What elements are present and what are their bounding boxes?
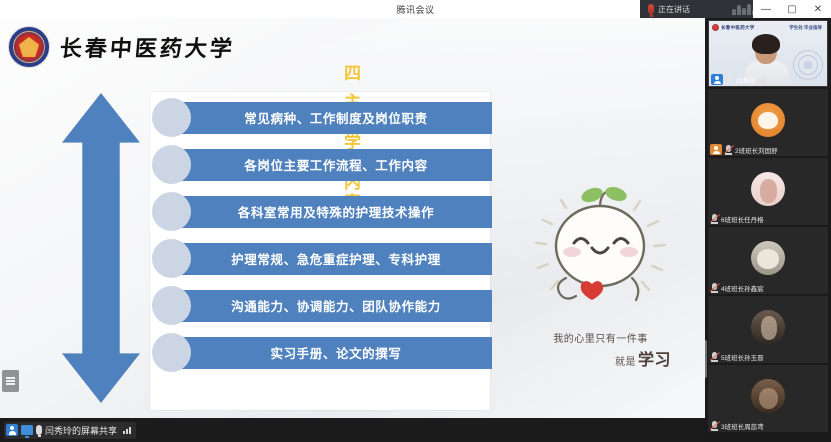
- mascot-caption-emphasis: 学习: [638, 346, 671, 370]
- avatar: [751, 379, 785, 413]
- list-item-label: 各岗位主要工作流程、工作内容: [244, 155, 427, 174]
- minimize-button[interactable]: —: [753, 0, 779, 18]
- window-title: 腾讯会议: [396, 3, 434, 16]
- participant-tile-footer: 4班班长孙鑫宸: [708, 281, 828, 294]
- tencent-meeting-window: 腾讯会议 正在讲话 — ▢ ✕ 长春中医药大学: [0, 0, 831, 442]
- list-item-bar: 常见病种、工作制度及岗位职责: [180, 102, 492, 134]
- participant-tile-footer: 6班班长任丹格: [708, 212, 828, 225]
- participant-tile[interactable]: 4班班长孙鑫宸: [708, 227, 828, 294]
- participant-tile[interactable]: 2班班长刘国舒: [708, 89, 828, 156]
- video-overlay-logo-text: 长春中医药大学: [721, 25, 755, 31]
- signal-strength-icon: [123, 427, 131, 434]
- list-item: 各科室常用及特殊的护理技术操作: [152, 192, 492, 231]
- share-owner-label: 闫秀玲的屏幕共享: [45, 424, 117, 437]
- speaking-status-label: 正在讲话: [658, 4, 690, 15]
- window-controls: — ▢ ✕: [753, 0, 831, 18]
- double-arrow-icon: [62, 93, 140, 403]
- list-item-bullet-icon: [152, 239, 191, 278]
- sprout-character-icon: [526, 186, 676, 328]
- section-number: 四: [344, 66, 361, 83]
- participant-tile-footer: 2班班长刘国舒: [708, 143, 828, 156]
- video-overlay-right-text: 学生处 毕业指导: [789, 25, 822, 32]
- maximize-button[interactable]: ▢: [779, 0, 805, 18]
- mascot-illustration: 我的心里只有一件事 就是 学习: [508, 186, 693, 376]
- list-item-label: 常见病种、工作制度及岗位职责: [244, 108, 427, 127]
- hamburger-icon: [6, 380, 15, 382]
- participant-tile-footer: 5班班长孙玉晋: [708, 350, 828, 363]
- participant-tile[interactable]: 5班班长孙玉晋: [708, 296, 828, 363]
- slide-header: 长春中医药大学: [8, 26, 235, 68]
- list-item-label: 各科室常用及特殊的护理技术操作: [238, 202, 435, 221]
- microphone-muted-icon: [710, 421, 719, 431]
- participant-tile-footer: 3班班长周蕊鸢: [708, 419, 828, 432]
- microphone-muted-icon: [710, 283, 719, 293]
- list-item-bar: 实习手册、论文的撰写: [180, 337, 492, 369]
- presentation-slide: 长春中医药大学 四 主 要 学 习 内 容 常见病种、工: [0, 18, 705, 418]
- avatar: [751, 310, 785, 344]
- avatar: [751, 241, 785, 275]
- share-owner-chip[interactable]: 闫秀玲的屏幕共享: [4, 422, 136, 439]
- participant-tile[interactable]: 6班班长任丹格: [708, 158, 828, 225]
- university-logo-icon: [712, 24, 719, 31]
- list-item-bar: 各岗位主要工作流程、工作内容: [180, 149, 492, 181]
- participant-name: 闫秀玲: [736, 75, 756, 85]
- participant-name: 3班班长周蕊鸢: [721, 421, 764, 431]
- sidebar-scrollbar[interactable]: [705, 340, 707, 378]
- signal-strength-icon: [760, 77, 766, 83]
- mascot-caption-prefix: 就是: [615, 353, 636, 368]
- participant-tile-active[interactable]: 长春中医药大学 学生处 毕业指导 闫秀玲: [708, 20, 828, 87]
- participant-icon: [6, 424, 18, 436]
- list-item: 护理常规、急危重症护理、专科护理: [152, 239, 492, 278]
- list-item: 各岗位主要工作流程、工作内容: [152, 145, 492, 184]
- participant-tile-footer: 闫秀玲: [709, 73, 827, 86]
- list-item-bullet-icon: [152, 145, 191, 184]
- list-item-label: 实习手册、论文的撰写: [270, 343, 401, 362]
- panel-toggle-button[interactable]: [2, 370, 19, 392]
- participant-name: 4班班长孙鑫宸: [721, 283, 764, 293]
- list-item-bar: 护理常规、急危重症护理、专科护理: [180, 243, 492, 275]
- list-item-bullet-icon: [152, 98, 191, 137]
- screen-share-icon: [21, 425, 33, 435]
- list-item: 实习手册、论文的撰写: [152, 333, 492, 372]
- participant-tile[interactable]: 3班班长周蕊鸢: [708, 365, 828, 432]
- close-button[interactable]: ✕: [805, 0, 831, 18]
- participant-name: 6班班长任丹格: [721, 214, 764, 224]
- shared-screen-area[interactable]: 长春中医药大学 四 主 要 学 习 内 容 常见病种、工: [0, 18, 705, 418]
- mascot-caption-line-2: 就是 学习: [615, 346, 671, 370]
- microphone-muted-icon: [724, 145, 733, 155]
- mascot-caption-line-1: 我的心里只有一件事: [553, 330, 648, 345]
- participant-name: 5班班长孙玉晋: [721, 352, 764, 362]
- participant-sidebar[interactable]: 长春中医药大学 学生处 毕业指导 闫秀玲: [705, 18, 831, 442]
- avatar: [751, 172, 785, 206]
- list-item-bar: 沟通能力、协调能力、团队协作能力: [180, 290, 492, 322]
- university-logo-icon: [8, 26, 50, 68]
- list-item-bullet-icon: [152, 192, 191, 231]
- host-badge-icon: [711, 74, 723, 85]
- screen-share-status-bar: 闫秀玲的屏幕共享: [0, 418, 705, 442]
- list-item: 沟通能力、协调能力、团队协作能力: [152, 286, 492, 325]
- list-item: 常见病种、工作制度及岗位职责: [152, 98, 492, 137]
- microphone-active-icon: [648, 4, 654, 14]
- section-arrow-banner: [62, 93, 140, 403]
- speaking-status-chip: 正在讲话: [648, 4, 690, 15]
- list-item-bar: 各科室常用及特殊的护理技术操作: [180, 196, 492, 228]
- list-item-label: 沟通能力、协调能力、团队协作能力: [231, 296, 441, 315]
- list-item-bullet-icon: [152, 333, 191, 372]
- microphone-muted-icon: [710, 214, 719, 224]
- microphone-muted-icon: [710, 352, 719, 362]
- microphone-on-icon: [725, 75, 734, 85]
- avatar: [751, 103, 785, 137]
- microphone-icon: [36, 425, 42, 435]
- participant-name: 2班班长刘国舒: [735, 145, 778, 155]
- learning-content-list: 常见病种、工作制度及岗位职责 各岗位主要工作流程、工作内容 各科室常用及特殊的护…: [152, 98, 492, 372]
- university-name: 长春中医药大学: [59, 31, 237, 63]
- list-item-bullet-icon: [152, 286, 191, 325]
- video-overlay-logo: 长春中医药大学: [712, 24, 755, 31]
- cohost-badge-icon: [710, 144, 722, 155]
- list-item-label: 护理常规、急危重症护理、专科护理: [231, 249, 441, 268]
